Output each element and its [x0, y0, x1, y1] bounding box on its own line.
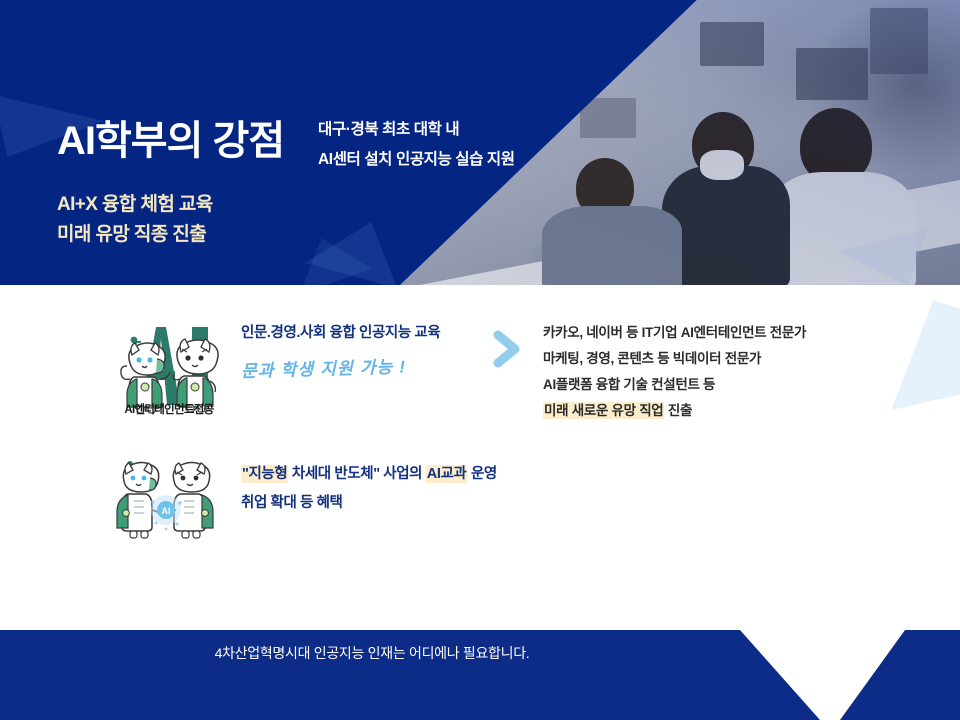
- row1-right-line: AI플랫폼 융합 기술 컨설턴트 등: [543, 372, 806, 398]
- row1-right-line: 마케팅, 경영, 콘텐츠 등 빅데이터 전문가: [543, 346, 806, 372]
- header-tagline-line: 미래 유망 직종 진출: [57, 220, 213, 250]
- row1-right-line: 카카오, 네이버 등 IT기업 AI엔터테인먼트 전문가: [543, 320, 806, 346]
- row1-left-line-2: 문과 학생 지원 가능 !: [241, 352, 407, 382]
- row1-left-text-handwritten: 문과 학생 지원 가능 !: [241, 357, 406, 382]
- highlight-text: 미래 새로운 유망 직업: [543, 402, 664, 419]
- decor-triangle-right: [890, 300, 960, 410]
- row1-right-text: 카카오, 네이버 등 IT기업 AI엔터테인먼트 전문가 마케팅, 경영, 콘텐…: [543, 320, 806, 424]
- footer-text: 4차산업혁명시대 인공지능 인재는 어디에나 필요합니다.: [0, 643, 744, 663]
- highlight-text: "지능형: [241, 465, 288, 483]
- header-subtitle-line: AI센터 설치 인공지능 실습 지원: [318, 145, 515, 175]
- chevron-right-icon: [492, 330, 522, 368]
- ai-orb-icon: AI: [151, 495, 182, 530]
- svg-text:AI: AI: [162, 506, 171, 516]
- page-title: AI학부의 강점: [57, 108, 284, 166]
- row2-line-1-mid: 차세대 반도체" 사업의: [288, 466, 425, 482]
- highlight-text: AI교과: [426, 465, 468, 483]
- highlight-tail: 진출: [664, 403, 692, 418]
- header-tagline-line: AI+X 융합 체험 교육: [57, 190, 213, 220]
- header-tagline: AI+X 융합 체험 교육 미래 유망 직종 진출: [57, 190, 213, 250]
- row1-right-line-highlighted: 미래 새로운 유망 직업 진출: [543, 398, 806, 424]
- row2-line-1-tail: 운영: [467, 466, 497, 482]
- logo-caption: AI엔터테인먼트전공: [108, 401, 230, 417]
- slide-root: AI학부의 강점 대구·경북 최초 대학 내 AI센터 설치 인공지능 실습 지…: [0, 0, 960, 720]
- row1-left-line-1: 인문.경영.사회 융합 인공지능 교육: [241, 321, 440, 342]
- twin-tiger-mascot-icon: AI: [112, 455, 220, 545]
- row1-left-text: 인문.경영.사회 융합 인공지능 교육: [241, 321, 440, 342]
- row2-text: "지능형 차세대 반도체" 사업의 AI교과 운영 취업 확대 등 혜택: [241, 460, 497, 518]
- header-subtitle: 대구·경북 최초 대학 내 AI센터 설치 인공지능 실습 지원: [318, 115, 515, 175]
- row2-line-1: "지능형 차세대 반도체" 사업의 AI교과 운영: [241, 460, 497, 489]
- row2-line-2: 취업 확대 등 혜택: [241, 489, 497, 518]
- header-subtitle-line: 대구·경북 최초 대학 내: [318, 115, 515, 145]
- header-banner: AI학부의 강점 대구·경북 최초 대학 내 AI센터 설치 인공지능 실습 지…: [0, 0, 960, 285]
